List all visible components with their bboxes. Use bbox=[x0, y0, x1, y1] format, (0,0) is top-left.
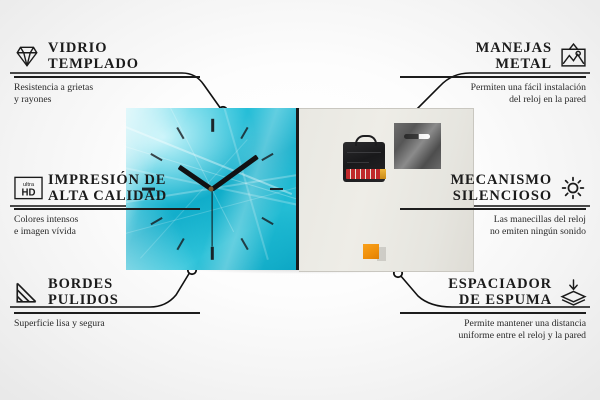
svg-text:HD: HD bbox=[22, 188, 36, 199]
ultra-hd-icon: ultra HD bbox=[14, 175, 40, 201]
diamond-icon bbox=[14, 43, 40, 69]
battery-terminal bbox=[380, 169, 386, 179]
feature-description: Permite mantener una distanciauniforme e… bbox=[400, 318, 586, 343]
feature-bordes-pulidos: BORDESPULIDOS Superficie lisa y segura bbox=[14, 276, 200, 330]
picture-hanger-icon bbox=[560, 43, 586, 69]
feature-title: BORDESPULIDOS bbox=[48, 276, 119, 308]
feature-description: Resistencia a grietasy rayones bbox=[14, 82, 200, 107]
infographic-canvas: VIDRIOTEMPLADO Resistencia a grietasy ra… bbox=[0, 0, 600, 400]
feature-impresion-alta-calidad: ultra HD IMPRESIÓN DEALTA CALIDAD Colore… bbox=[14, 172, 200, 239]
metal-hanger-plate bbox=[394, 123, 441, 169]
feature-title: MECANISMOSILENCIOSO bbox=[450, 172, 552, 204]
feature-manejas-metal: MANEJASMETAL Permiten una fácil instalac… bbox=[400, 40, 586, 107]
divider bbox=[400, 76, 586, 78]
hanger-slot bbox=[404, 134, 430, 139]
battery-compartment bbox=[346, 169, 382, 179]
feature-vidrio-templado: VIDRIOTEMPLADO Resistencia a grietasy ra… bbox=[14, 40, 200, 107]
feature-title: ESPACIADORDE ESPUMA bbox=[448, 276, 552, 308]
feature-description: Las manecillas del relojno emiten ningún… bbox=[400, 214, 586, 239]
second-hand bbox=[211, 189, 212, 247]
gear-icon bbox=[560, 175, 586, 201]
feature-description: Permiten una fácil instalacióndel reloj … bbox=[400, 82, 586, 107]
feature-espaciador-de-espuma: ESPACIADORDE ESPUMA Permite mantener una… bbox=[400, 276, 586, 343]
feature-title: IMPRESIÓN DEALTA CALIDAD bbox=[48, 172, 167, 204]
divider bbox=[400, 208, 586, 210]
divider bbox=[14, 76, 200, 78]
feature-mecanismo-silencioso: MECANISMOSILENCIOSO Las manecillas del r… bbox=[400, 172, 586, 239]
divider bbox=[14, 208, 200, 210]
foam-spacer bbox=[363, 244, 379, 259]
foam-spacer-icon bbox=[560, 279, 586, 305]
mechanism-loop bbox=[355, 135, 377, 146]
clock-mechanism bbox=[343, 142, 385, 182]
clock-tick bbox=[211, 118, 214, 131]
clock-tick bbox=[211, 246, 214, 259]
clock-tick bbox=[270, 188, 283, 191]
clock-hub bbox=[209, 187, 214, 192]
feature-title: VIDRIOTEMPLADO bbox=[48, 40, 139, 72]
feature-title: MANEJASMETAL bbox=[476, 40, 552, 72]
divider bbox=[400, 312, 586, 314]
divider bbox=[14, 312, 200, 314]
feature-description: Superficie lisa y segura bbox=[14, 318, 200, 330]
feature-description: Colores intensose imagen vívida bbox=[14, 214, 200, 239]
polished-edges-icon bbox=[14, 279, 40, 305]
